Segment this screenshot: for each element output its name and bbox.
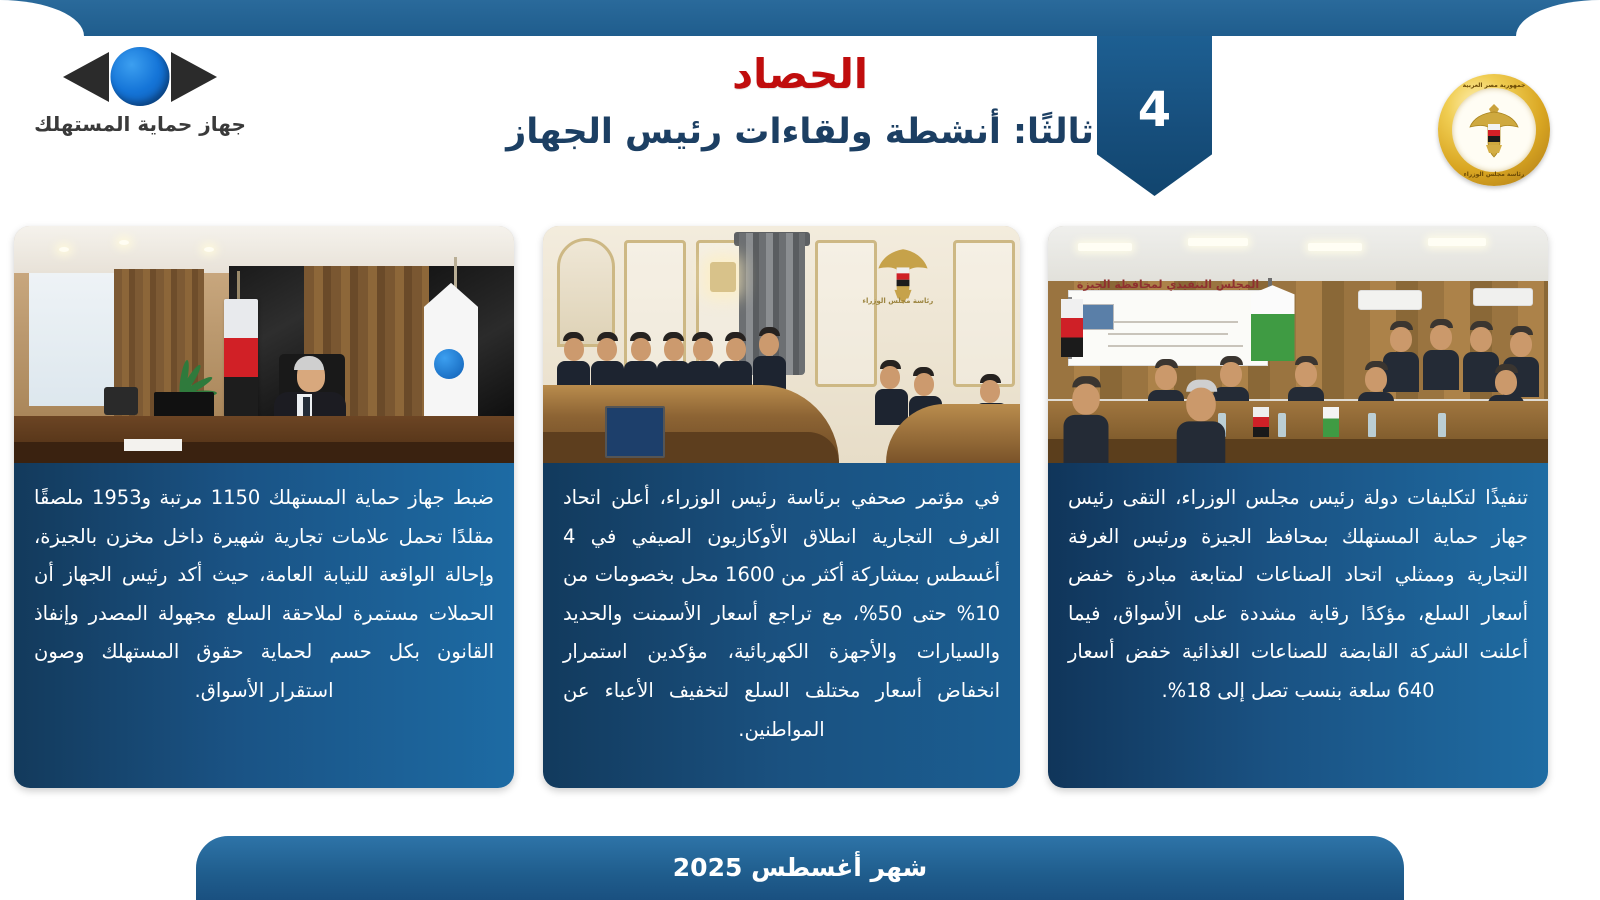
slide-number-ribbon: 4 [1097,36,1212,196]
eye-logo-icon [55,44,225,110]
wall-panel [953,240,1015,387]
news-card-1-photo [14,226,514,463]
ceiling-light [1308,243,1362,251]
top-decorative-bar [0,0,1600,36]
giza-governorate-flag [1251,285,1295,361]
ceiling [1048,226,1548,281]
seal-bottom-text: رئاسة مجلس الوزراء [1438,171,1550,178]
news-card-2-text: في مؤتمر صحفي برئاسة رئيس الوزراء، أعلن … [543,463,1020,788]
news-card-3-photo: المجلس التنفيذي لمحافظة الجيزة [1048,226,1548,463]
giza-council-photo: المجلس التنفيذي لمحافظة الجيزة [1048,226,1548,463]
egyptian-flag [224,299,258,417]
ceiling-light [1428,238,1486,246]
cabinet-emblem-caption: رئاسة مجلس الوزراء [858,297,938,305]
attendee-right [872,360,908,425]
foreground-attendee [1177,380,1226,463]
window [29,273,114,406]
eye-corner-right-icon [171,52,217,102]
water-bottle [1368,413,1376,437]
meeting-table-front [1048,439,1548,463]
banner-text-line [1108,321,1238,323]
egypt-flag [1061,299,1083,357]
meeting-banner-title: المجلس التنفيذي لمحافظة الجيزة [1068,278,1268,291]
desk-egypt-flag [1253,407,1269,437]
eye-corner-left-icon [63,52,109,102]
slide-root: جهاز حماية المستهلك الحصاد ثالثًا: أنشطة… [0,0,1600,900]
presentation-screen [605,406,665,458]
slide-header: جهاز حماية المستهلك الحصاد ثالثًا: أنشطة… [0,36,1600,214]
consumer-protection-logo: جهاز حماية المستهلك [30,44,250,136]
attendee [1423,319,1459,390]
conference-table-front [543,432,839,463]
water-bottle [1278,413,1286,437]
slide-number-label: 4 [1097,82,1212,138]
wall-sconce-light [710,262,736,292]
footer-bar: شهر أغسطس 2025 [196,836,1404,900]
banner-text-line [1108,345,1243,347]
desk-papers [124,439,182,451]
banner-portrait [1078,304,1114,330]
news-card-2-photo: رئاسة مجلس الوزراء [543,226,1020,463]
air-conditioner [1473,288,1533,306]
egypt-government-seal-icon: جمهورية مصر العربية رئاسة مجلس الوزراء [1438,74,1550,186]
news-card-2[interactable]: رئاسة مجلس الوزراء [543,226,1020,788]
desk-object [104,387,138,415]
footer-month-label: شهر أغسطس 2025 [196,836,1404,900]
news-card-1-text: ضبط جهاز حماية المستهلك 1150 مرتبة و1953… [14,463,514,788]
ceiling-light [1078,243,1132,251]
seal-top-text: جمهورية مصر العربية [1438,82,1550,89]
content-cards: ضبط جهاز حماية المستهلك 1150 مرتبة و1953… [0,226,1600,801]
air-conditioner [1358,290,1422,310]
water-bottle [1438,413,1446,437]
desk-front [14,442,514,463]
news-card-3-text: تنفيذًا لتكليفات دولة رئيس مجلس الوزراء،… [1048,463,1548,788]
ceiling-light [1188,238,1248,246]
cabinet-hall-photo: رئاسة مجلس الوزراء [543,226,1020,463]
desk-giza-flag [1323,407,1339,437]
news-card-3[interactable]: المجلس التنفيذي لمحافظة الجيزة [1048,226,1548,788]
wall-panel [815,240,877,387]
eagle-of-saladin-icon [1468,101,1520,159]
news-card-1[interactable]: ضبط جهاز حماية المستهلك 1150 مرتبة و1953… [14,226,514,788]
brand-name-label: جهاز حماية المستهلك [30,112,250,136]
office-photo [14,226,514,463]
banner-text-line [1108,333,1228,335]
prime-minister [753,327,786,392]
foreground-attendee [1064,376,1109,463]
eye-iris-icon [111,47,170,106]
wall-arch [557,238,614,347]
